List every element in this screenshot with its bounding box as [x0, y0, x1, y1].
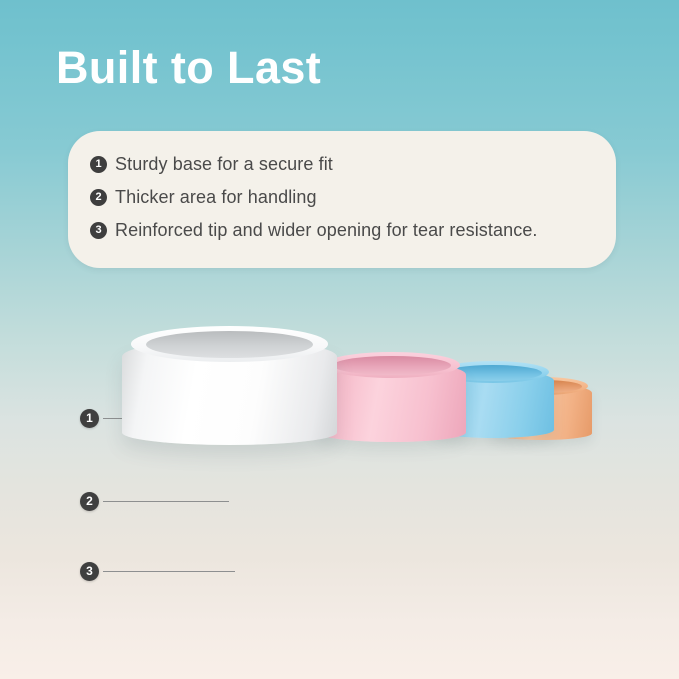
cup-interior-white — [146, 331, 314, 358]
callout-marker-3: 3 — [80, 562, 235, 581]
list-item: 1 Sturdy base for a secure fit — [90, 148, 600, 181]
feature-label: Reinforced tip and wider opening for tea… — [115, 220, 538, 241]
callout-number-badge: 2 — [80, 492, 99, 511]
feature-number-badge: 3 — [90, 222, 107, 239]
callout-number-badge: 1 — [80, 409, 99, 428]
infographic-poster: Built to Last 1 Sturdy base for a secure… — [0, 0, 679, 679]
features-list: 1 Sturdy base for a secure fit 2 Thicker… — [90, 148, 600, 247]
callout-leader-line — [103, 571, 235, 572]
callout-leader-line — [103, 501, 229, 502]
callout-number-badge: 3 — [80, 562, 99, 581]
feature-number-badge: 1 — [90, 156, 107, 173]
feature-label: Sturdy base for a secure fit — [115, 154, 333, 175]
feature-label: Thicker area for handling — [115, 187, 317, 208]
cup-interior-pink — [333, 356, 451, 375]
page-title: Built to Last — [56, 44, 321, 91]
list-item: 3 Reinforced tip and wider opening for t… — [90, 214, 600, 247]
product-variant-white — [122, 340, 337, 445]
feature-number-badge: 2 — [90, 189, 107, 206]
product-variant-pink — [318, 362, 466, 442]
features-card: 1 Sturdy base for a secure fit 2 Thicker… — [68, 131, 616, 268]
list-item: 2 Thicker area for handling — [90, 181, 600, 214]
callout-marker-2: 2 — [80, 492, 229, 511]
